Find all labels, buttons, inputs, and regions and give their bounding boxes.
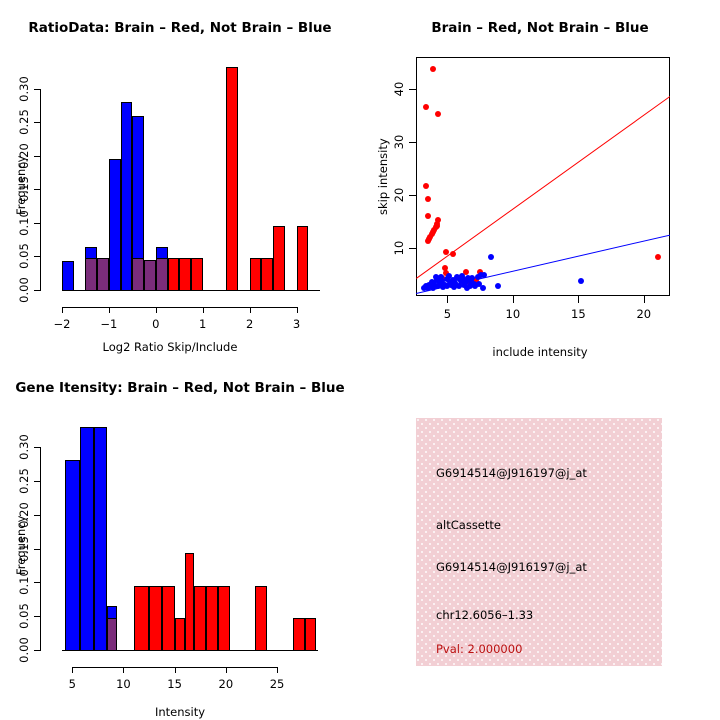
histogram-bar <box>65 460 80 651</box>
scatter-point <box>440 284 446 290</box>
histogram-bar <box>134 586 149 651</box>
scatter-point <box>430 66 436 72</box>
x-axis-tick <box>644 296 645 303</box>
histogram-bar <box>305 618 316 651</box>
x-axis-tick-label: 20 <box>622 307 666 321</box>
histogram-bar <box>85 258 97 291</box>
x-axis-tick-label: −1 <box>87 317 131 331</box>
scatter-point <box>464 285 470 291</box>
y-axis-tick <box>34 616 41 617</box>
y-axis-tick-label: 0.05 <box>17 596 31 636</box>
histogram-bar <box>273 226 285 291</box>
x-axis-tick-label: 5 <box>50 677 94 691</box>
scatter-point <box>655 254 661 260</box>
y-axis-tick <box>34 582 41 583</box>
histogram-bar <box>62 261 74 291</box>
y-axis-tick-label: 10 <box>392 232 406 264</box>
scatter-point <box>435 111 441 117</box>
x-axis-tick-label: 10 <box>491 307 535 321</box>
panel-gene-histogram: Gene Itensity: Brain – Red, Not Brain – … <box>0 360 360 720</box>
histogram-bar <box>250 258 262 291</box>
y-axis-tick <box>409 142 416 143</box>
y-axis-tick <box>34 481 41 482</box>
scatter-point <box>425 238 431 244</box>
histogram-bar <box>255 586 267 651</box>
scatter-point <box>475 274 481 280</box>
scatter-point <box>578 278 584 284</box>
x-axis-tick <box>250 307 251 313</box>
x-axis-tick <box>578 296 579 303</box>
x-axis-tick <box>277 667 278 673</box>
histogram-bar <box>121 102 133 291</box>
histogram-bar <box>185 553 194 651</box>
scatter-point <box>495 283 501 289</box>
x-axis-tick <box>175 667 176 673</box>
histogram-bar <box>293 618 304 651</box>
histogram-bar <box>109 159 121 291</box>
y-axis-tick-label: 30 <box>392 126 406 158</box>
y-axis-tick <box>34 156 41 157</box>
x-axis-tick <box>226 667 227 673</box>
x-axis-tick <box>203 307 204 313</box>
info-text-line: G6914514@J916197@j_at <box>436 466 587 480</box>
y-axis-tick <box>34 189 41 190</box>
x-axis-tick <box>513 296 514 303</box>
panel-intensity-scatter: Brain – Red, Not Brain – Blue skip inten… <box>360 0 720 360</box>
scatter-point <box>423 104 429 110</box>
histogram-bar <box>175 618 185 651</box>
y-axis-tick-label: 20 <box>392 179 406 211</box>
histogram-bar <box>156 258 168 291</box>
ratio-histogram-plot-area: 0.000.050.100.150.200.250.30−2−10123 <box>0 0 360 360</box>
scatter-point <box>425 285 431 291</box>
x-axis-tick-label: 15 <box>153 677 197 691</box>
histogram-bar <box>168 258 180 291</box>
x-axis-tick-label: −2 <box>40 317 84 331</box>
scatter-point <box>459 273 465 279</box>
y-axis-tick <box>409 89 416 90</box>
histogram-bar <box>179 258 191 291</box>
y-axis-tick <box>409 248 416 249</box>
histogram-bar <box>297 226 309 291</box>
x-axis-tick-label: 10 <box>101 677 145 691</box>
histogram-bar <box>97 258 109 291</box>
scatter-clip <box>416 57 670 296</box>
x-axis-tick <box>72 667 73 673</box>
x-axis-tick-label: 0 <box>134 317 178 331</box>
x-axis-tick <box>62 307 63 313</box>
scatter-plot-area: 102030405101520 <box>360 0 720 360</box>
y-axis-tick-label: 0.00 <box>17 630 31 670</box>
info-text-line: altCassette <box>436 518 501 532</box>
gene-info-box: G6914514@J916197@j_ataltCassetteG6914514… <box>416 418 662 666</box>
x-axis-tick <box>447 296 448 303</box>
scatter-point <box>450 251 456 257</box>
histogram-bar <box>162 586 174 651</box>
y-axis-tick <box>34 650 41 651</box>
y-axis-tick <box>409 195 416 196</box>
panel-ratio-histogram: RatioData: Brain – Red, Not Brain – Blue… <box>0 0 360 360</box>
y-axis-tick <box>34 447 41 448</box>
figure-canvas: RatioData: Brain – Red, Not Brain – Blue… <box>0 0 720 720</box>
scatter-point <box>443 249 449 255</box>
x-axis-tick-label: 3 <box>275 317 319 331</box>
histogram-bar <box>144 260 156 291</box>
x-axis-tick-label: 15 <box>556 307 600 321</box>
x-axis-tick-label: 1 <box>181 317 225 331</box>
x-axis-tick <box>297 307 298 313</box>
histogram-bar <box>132 258 144 291</box>
info-text-line: G6914514@J916197@j_at <box>436 560 587 574</box>
x-axis-tick-label: 5 <box>425 307 469 321</box>
scatter-point <box>438 274 444 280</box>
y-axis-tick <box>34 515 41 516</box>
scatter-point <box>423 183 429 189</box>
info-text-line: chr12.6056–1.33 <box>436 608 533 622</box>
scatter-point <box>480 285 486 291</box>
x-axis-tick <box>109 307 110 313</box>
scatter-point <box>425 196 431 202</box>
scatter-point <box>430 285 436 291</box>
x-axis-tick-label: 2 <box>228 317 272 331</box>
x-axis-tick-label: 20 <box>204 677 248 691</box>
y-axis-tick <box>34 549 41 550</box>
y-axis-tick <box>34 256 41 257</box>
x-axis-tick-rule <box>62 307 297 308</box>
histogram-bar <box>149 586 162 651</box>
histogram-bar <box>80 427 93 651</box>
scatter-point <box>456 283 462 289</box>
scatter-point <box>488 254 494 260</box>
y-axis-tick <box>34 290 41 291</box>
y-axis-tick <box>34 122 41 123</box>
gene-histogram-plot-area: 0.000.050.100.150.200.250.30510152025 <box>0 360 360 720</box>
y-axis-tick-label: 40 <box>392 73 406 105</box>
x-axis-tick <box>156 307 157 313</box>
y-axis-tick <box>34 223 41 224</box>
y-axis-tick-label: 0.00 <box>17 270 31 310</box>
histogram-bar <box>94 427 107 651</box>
panel-gene-info: G6914514@J916197@j_ataltCassetteG6914514… <box>360 360 720 720</box>
scatter-point <box>472 283 478 289</box>
y-axis-tick-label: 0.30 <box>17 427 31 467</box>
histogram-bar <box>226 67 238 291</box>
histogram-bar <box>218 586 230 651</box>
scatter-point <box>425 213 431 219</box>
histogram-bar <box>206 586 217 651</box>
histogram-bar <box>194 586 206 651</box>
histogram-bar <box>107 618 117 651</box>
pval-text: Pval: 2.000000 <box>436 642 522 656</box>
y-axis-tick <box>34 89 41 90</box>
histogram-bar <box>261 258 273 291</box>
x-axis-tick <box>123 667 124 673</box>
histogram-bar <box>191 258 203 291</box>
y-axis-tick-label: 0.30 <box>17 69 31 109</box>
x-axis-tick-label: 25 <box>255 677 299 691</box>
